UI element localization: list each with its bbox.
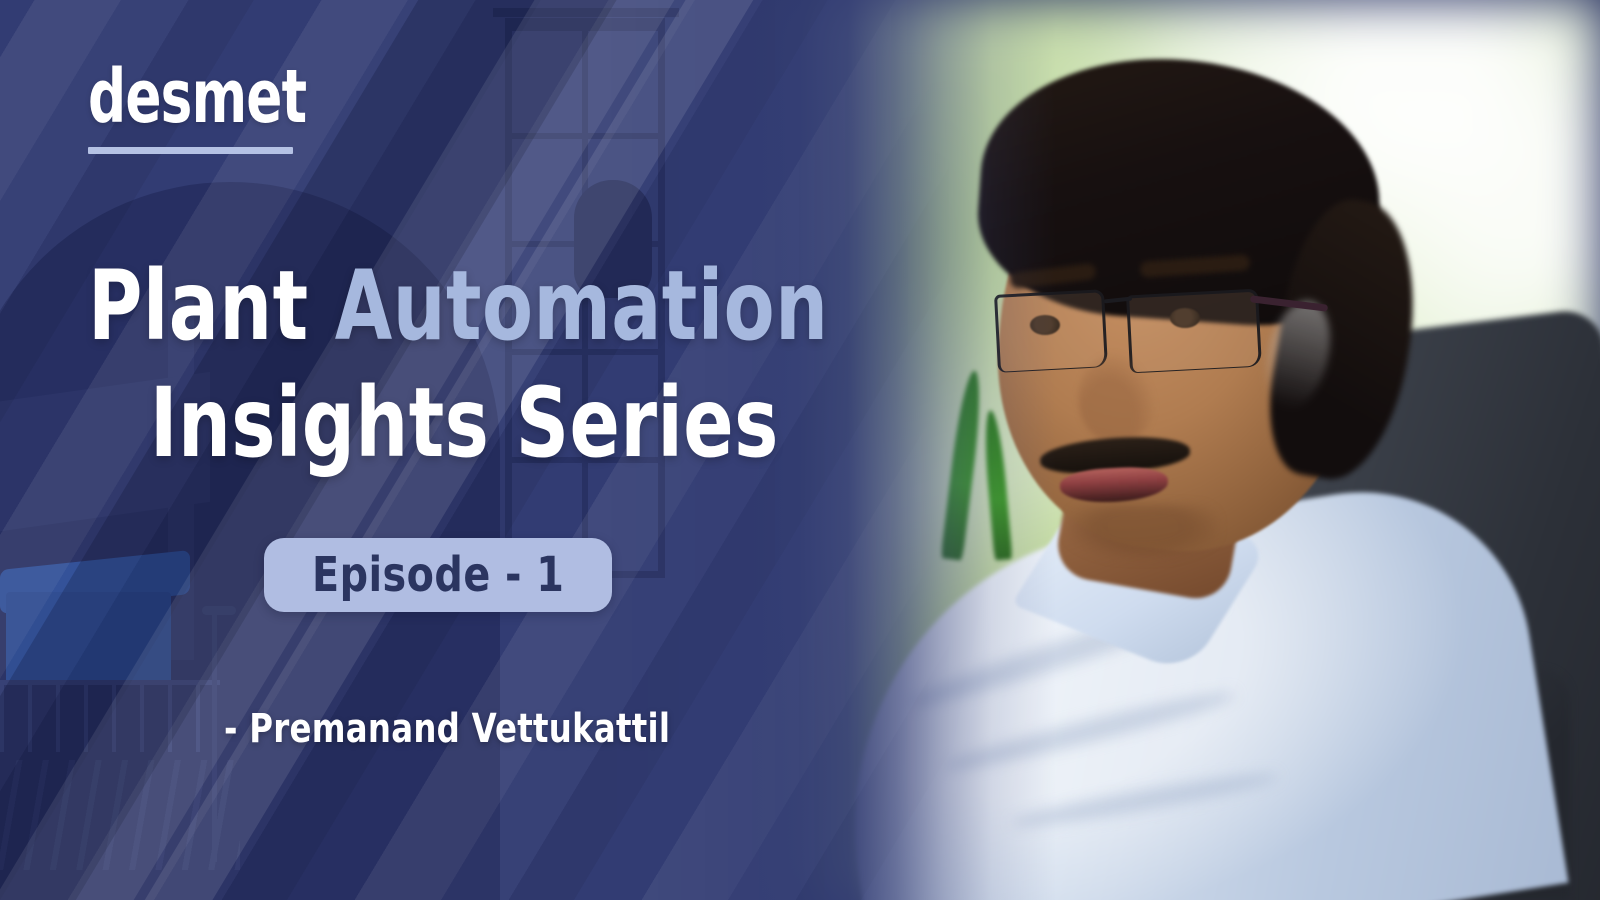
page-title: Plant Automation Insights Series xyxy=(88,248,949,482)
episode-badge-label: Episode - 1 xyxy=(312,547,564,603)
title-line-1: Plant Automation xyxy=(88,248,828,365)
speaker-name: - Premanand Vettukattil xyxy=(224,706,670,752)
brand-logo: desmet xyxy=(88,62,361,154)
title-word-automation: Automation xyxy=(335,250,829,362)
brand-logo-text: desmet xyxy=(88,62,306,133)
title-line-2: Insights Series xyxy=(88,365,828,482)
title-slide: desmet Plant Automation Insights Series … xyxy=(0,0,1600,900)
brand-underline xyxy=(88,147,293,154)
title-word-plant: Plant xyxy=(88,250,335,362)
slide-content: desmet Plant Automation Insights Series … xyxy=(0,0,1600,900)
episode-badge: Episode - 1 xyxy=(264,538,612,612)
